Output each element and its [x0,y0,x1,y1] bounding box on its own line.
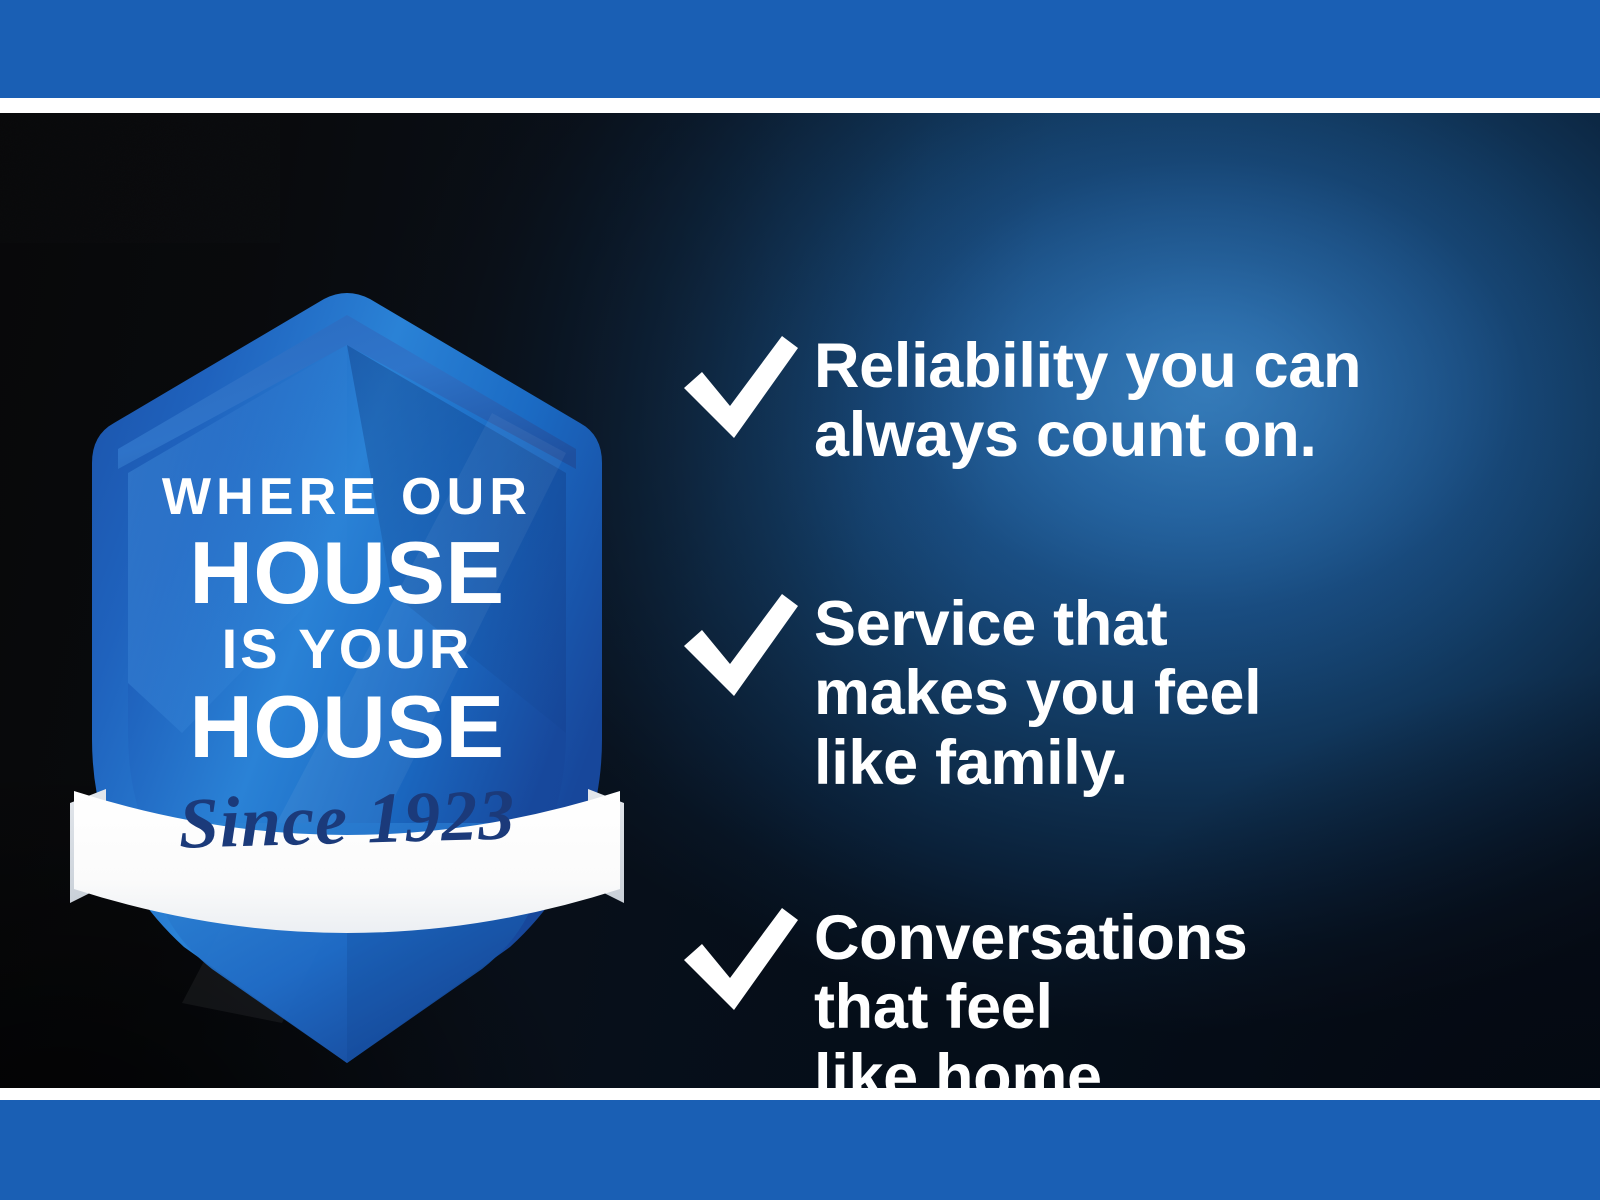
benefit-item: Reliability you can always count on. [672,326,1552,471]
main-panel: Where Our House Is Your House Since 1923… [0,113,1600,1088]
checkmark-icon [672,898,804,1022]
badge-line-house-1: House [62,529,632,617]
benefit-text: Reliability you can always count on. [814,326,1361,471]
benefits-list: Reliability you can always count on. Ser… [672,226,1552,1088]
checkmark-icon [672,584,804,708]
bottom-brand-bar [0,1100,1600,1200]
badge-line-is-your: Is Your [62,621,632,677]
top-brand-bar [0,0,1600,98]
promo-graphic: Where Our House Is Your House Since 1923… [0,0,1600,1200]
benefit-item: Service that makes you feel like family. [672,584,1552,798]
benefit-item: Conversations that feel like home. [672,898,1552,1088]
badge-line-house-2: House [62,683,632,771]
badge-line-where-our: Where Our [62,471,632,523]
benefit-text: Conversations that feel like home. [814,898,1248,1088]
checkmark-icon [672,326,804,450]
benefit-text: Service that makes you feel like family. [814,584,1261,798]
heritage-shield-badge: Where Our House Is Your House Since 1923 [62,263,632,1073]
